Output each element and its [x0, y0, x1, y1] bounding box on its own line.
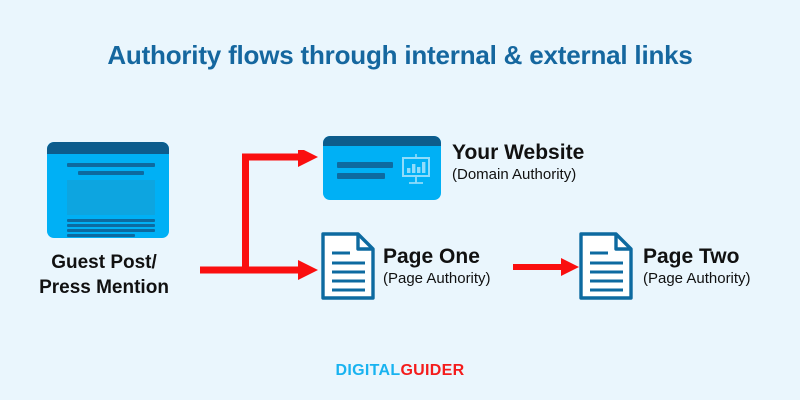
- page-two-document-icon: [578, 231, 634, 306]
- browser-line-5: [67, 229, 155, 232]
- page-one-text: Page One (Page Authority): [383, 245, 491, 289]
- browser-line-3: [67, 219, 155, 222]
- browser-line-4: [67, 224, 155, 227]
- digitalguider-logo: DIGITALGUIDER: [0, 362, 800, 380]
- website-card-titlebar: [323, 136, 441, 146]
- browser-content-block: [67, 180, 155, 215]
- browser-line-1: [67, 163, 155, 167]
- page-two-text: Page Two (Page Authority): [643, 245, 751, 289]
- your-website-text: Your Website (Domain Authority): [452, 141, 584, 185]
- page-one-subtitle: (Page Authority): [383, 269, 491, 289]
- page-two-title: Page Two: [643, 245, 751, 269]
- your-website-subtitle: (Domain Authority): [452, 165, 584, 185]
- guest-post-label-line1: Guest Post/: [0, 250, 208, 275]
- browser-window-icon: [47, 142, 169, 238]
- red-straight-arrow: [513, 255, 581, 279]
- page-two-subtitle: (Page Authority): [643, 269, 751, 289]
- logo-part-guider: GUIDER: [400, 362, 464, 379]
- browser-titlebar: [47, 142, 169, 154]
- guest-post-label: Guest Post/ Press Mention: [0, 250, 208, 300]
- bar-chart-presentation-icon: [401, 154, 431, 191]
- page-one-title: Page One: [383, 245, 491, 269]
- website-card-line-2: [337, 173, 385, 179]
- your-website-title: Your Website: [452, 141, 584, 165]
- page-one-document-icon: [320, 231, 376, 306]
- website-card-icon: [323, 136, 441, 200]
- logo-part-digital: DIGITAL: [336, 362, 401, 379]
- page-title: Authority flows through internal & exter…: [0, 40, 800, 71]
- website-card-line-1: [337, 162, 393, 168]
- red-branch-arrow: [190, 150, 325, 280]
- infographic-canvas: Authority flows through internal & exter…: [0, 0, 800, 400]
- browser-line-2: [78, 171, 144, 175]
- guest-post-label-line2: Press Mention: [0, 275, 208, 300]
- browser-line-6: [67, 234, 135, 237]
